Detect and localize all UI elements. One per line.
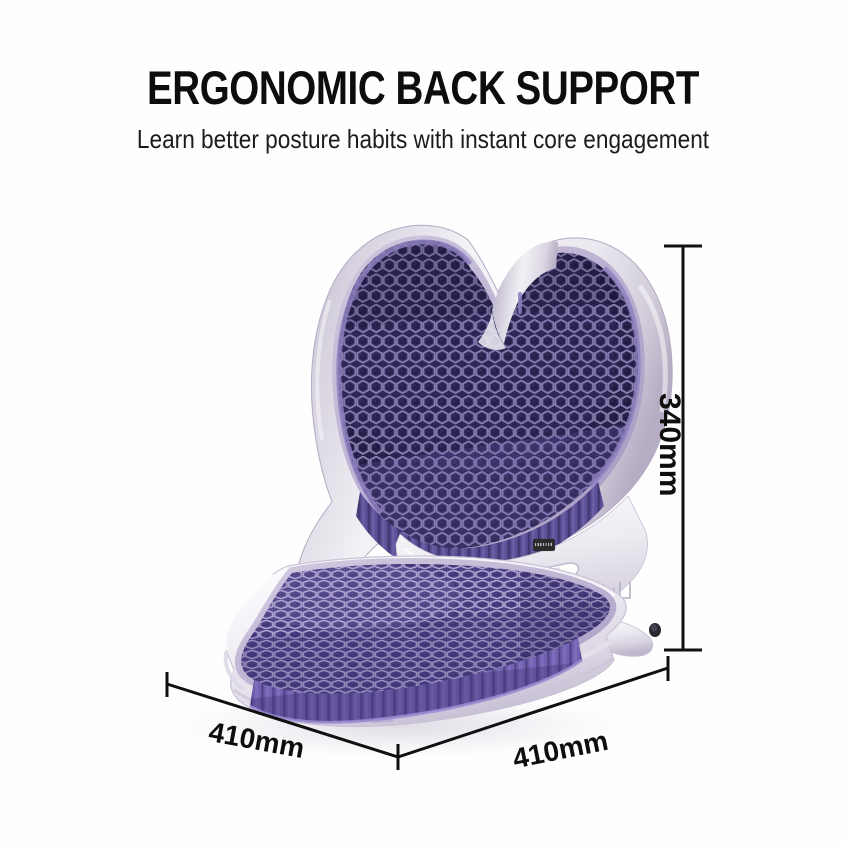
notch-slot-detail (518, 292, 522, 314)
product-infographic: ERGONOMIC BACK SUPPORT Learn better post… (0, 0, 846, 846)
brand-badge (533, 539, 555, 551)
product-image (0, 0, 846, 846)
